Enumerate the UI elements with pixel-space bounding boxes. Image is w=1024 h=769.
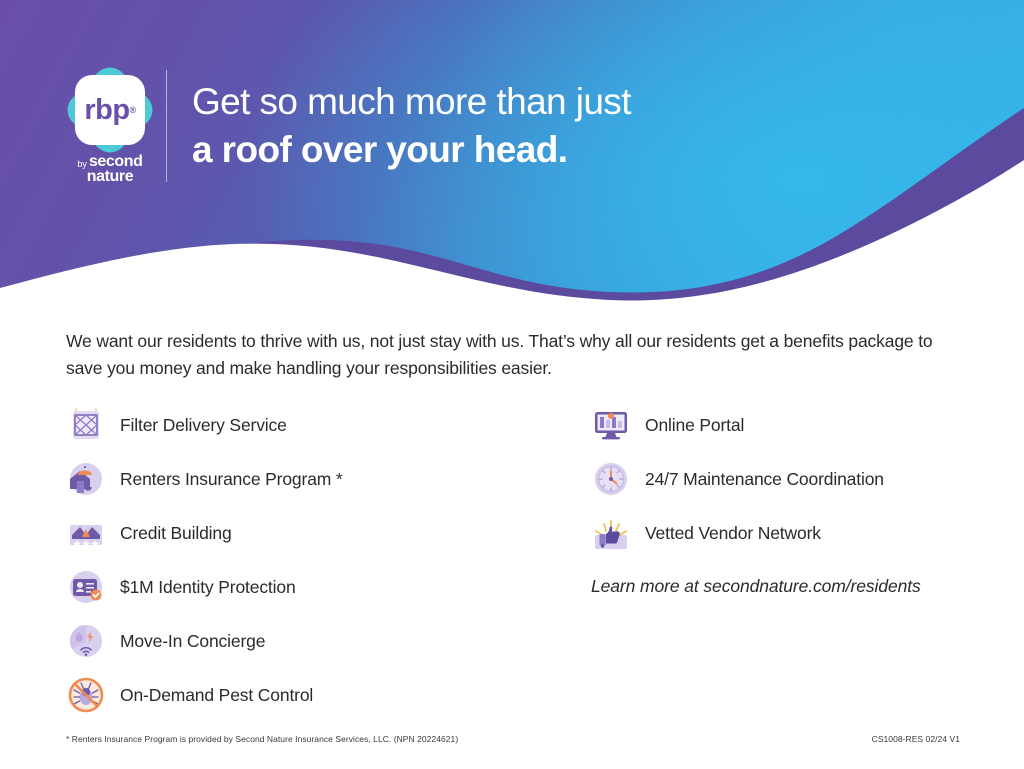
hero-headline: Get so much more than just a roof over y… — [192, 78, 631, 174]
credit-stars-icon — [66, 513, 106, 553]
logo-secondnature-line2: nature — [62, 169, 158, 184]
benefit-label: Credit Building — [120, 523, 232, 544]
benefit-label: Online Portal — [645, 415, 744, 436]
intro-paragraph: We want our residents to thrive with us,… — [66, 328, 946, 382]
logo-registered-mark: ® — [130, 105, 136, 115]
utilities-wifi-icon — [66, 621, 106, 661]
logo-byline-by: by — [77, 160, 87, 169]
benefit-label: On-Demand Pest Control — [120, 685, 313, 706]
benefit-label: Move-In Concierge — [120, 631, 265, 652]
benefits-right-column: Online Portal 24/7 Maintenance Coordinat… — [591, 398, 1011, 597]
benefit-item-credit-building[interactable]: Credit Building — [66, 506, 536, 560]
desktop-monitor-icon — [591, 405, 631, 445]
thumbs-up-icon — [591, 513, 631, 553]
rbp-logo: rbp® by second nature — [62, 66, 158, 186]
benefit-item-renters-insurance-program[interactable]: Renters Insurance Program * — [66, 452, 536, 506]
logo-rbp-text: rbp® — [66, 66, 154, 154]
benefit-label: $1M Identity Protection — [120, 577, 296, 598]
benefit-item-maintenance-coordination[interactable]: 24/7 Maintenance Coordination — [591, 452, 1011, 506]
benefit-item-identity-protection[interactable]: $1M Identity Protection — [66, 560, 536, 614]
benefit-label: Renters Insurance Program * — [120, 469, 343, 490]
headline-line-1: Get so much more than just — [192, 78, 631, 126]
benefits-left-column: Filter Delivery Service Renters Insuranc… — [66, 398, 536, 722]
footer-disclaimer: * Renters Insurance Program is provided … — [66, 734, 458, 744]
benefit-item-pest-control[interactable]: On-Demand Pest Control — [66, 668, 536, 722]
logo-secondnature-line1: second — [89, 154, 143, 169]
no-pest-icon — [66, 675, 106, 715]
umbrella-house-icon — [66, 459, 106, 499]
flyer-page: rbp® by second nature Get so much more t… — [0, 0, 1024, 769]
logo-rbp-label: rbp — [84, 94, 129, 127]
benefit-item-filter-delivery-service[interactable]: Filter Delivery Service — [66, 398, 536, 452]
logo-byline-row: by second — [62, 154, 158, 169]
logo-mark-shape: rbp® — [66, 66, 154, 154]
benefit-item-online-portal[interactable]: Online Portal — [591, 398, 1011, 452]
headline-line-2: a roof over your head. — [192, 126, 631, 174]
benefit-item-vetted-vendor-network[interactable]: Vetted Vendor Network — [591, 506, 1011, 560]
hero-banner: rbp® by second nature Get so much more t… — [0, 0, 1024, 310]
benefit-label: Filter Delivery Service — [120, 415, 287, 436]
benefit-label: 24/7 Maintenance Coordination — [645, 469, 884, 490]
footer-doc-code: CS1008-RES 02/24 V1 — [872, 734, 960, 744]
learn-more-link[interactable]: Learn more at secondnature.com/residents — [591, 576, 1011, 597]
benefit-label: Vetted Vendor Network — [645, 523, 821, 544]
benefit-item-move-in-concierge[interactable]: Move-In Concierge — [66, 614, 536, 668]
clock-icon — [591, 459, 631, 499]
air-filter-icon — [66, 405, 106, 445]
logo-divider — [166, 70, 167, 182]
id-badge-check-icon — [66, 567, 106, 607]
